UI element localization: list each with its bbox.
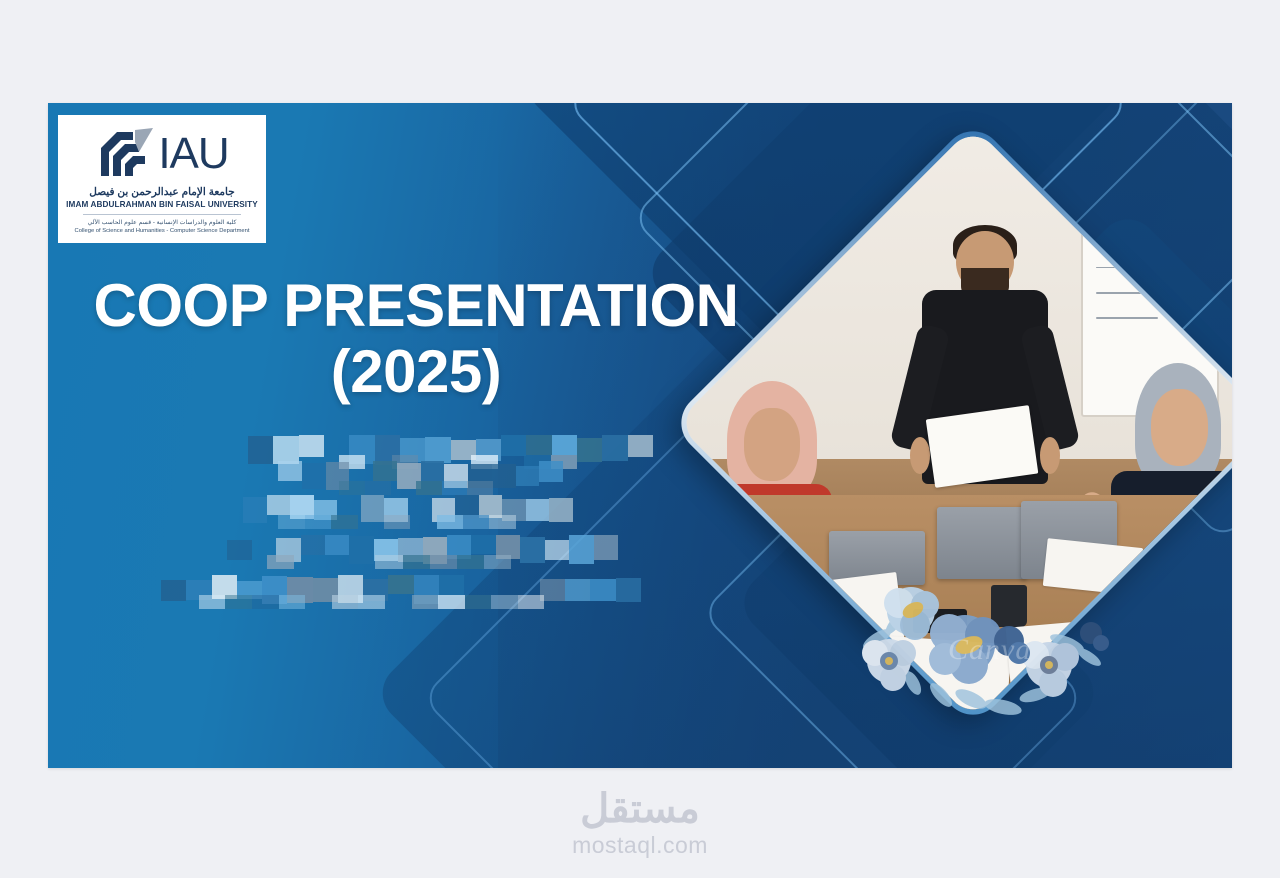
- photo-diamond: [758, 208, 1188, 638]
- mostaql-watermark: مستقل mostaql.com: [0, 788, 1280, 859]
- photo-phone: [913, 609, 967, 633]
- photo-mug-1: [991, 585, 1027, 627]
- logo-department-arabic: كلية العلوم والدراسات الإنسانية - قسم عل…: [88, 219, 237, 226]
- redacted-line-descender: [199, 595, 545, 609]
- logo-acronym: IAU: [158, 132, 228, 176]
- logo-name-arabic: جامعة الإمام عبدالرحمن بن فيصل: [89, 186, 234, 198]
- watermark-latin: mostaql.com: [572, 832, 708, 859]
- photo-papers-4: [1043, 538, 1143, 596]
- team-meeting-photo: [676, 126, 1232, 720]
- redacted-line-descender: [278, 515, 516, 529]
- redacted-text-block: [153, 435, 708, 623]
- logo-mark-row: IAU: [66, 124, 258, 184]
- presentation-slide: IAU جامعة الإمام عبدالرحمن بن فيصل IMAM …: [48, 103, 1232, 768]
- page-root: IAU جامعة الإمام عبدالرحمن بن فيصل IMAM …: [0, 0, 1280, 878]
- redacted-line-descender: [240, 555, 539, 569]
- iau-monogram-icon: [95, 126, 161, 182]
- title-line-2: (2025): [56, 339, 776, 405]
- watermark-arabic: مستقل: [580, 788, 700, 830]
- logo-department-english: College of Science and Humanities - Comp…: [75, 228, 250, 234]
- logo-name-english: IMAM ABDULRAHMAN BIN FAISAL UNIVERSITY: [66, 200, 258, 209]
- redacted-line-descender: [314, 481, 519, 495]
- title-line-1: COOP PRESENTATION: [56, 273, 776, 339]
- photo-diamond-inner: [676, 126, 1232, 720]
- university-logo: IAU جامعة الإمام عبدالرحمن بن فيصل IMAM …: [58, 115, 266, 243]
- logo-divider: [83, 214, 240, 215]
- slide-title: COOP PRESENTATION (2025): [56, 273, 776, 405]
- photo-laptop-2: [937, 507, 1027, 579]
- canva-watermark: Canva: [948, 633, 1031, 667]
